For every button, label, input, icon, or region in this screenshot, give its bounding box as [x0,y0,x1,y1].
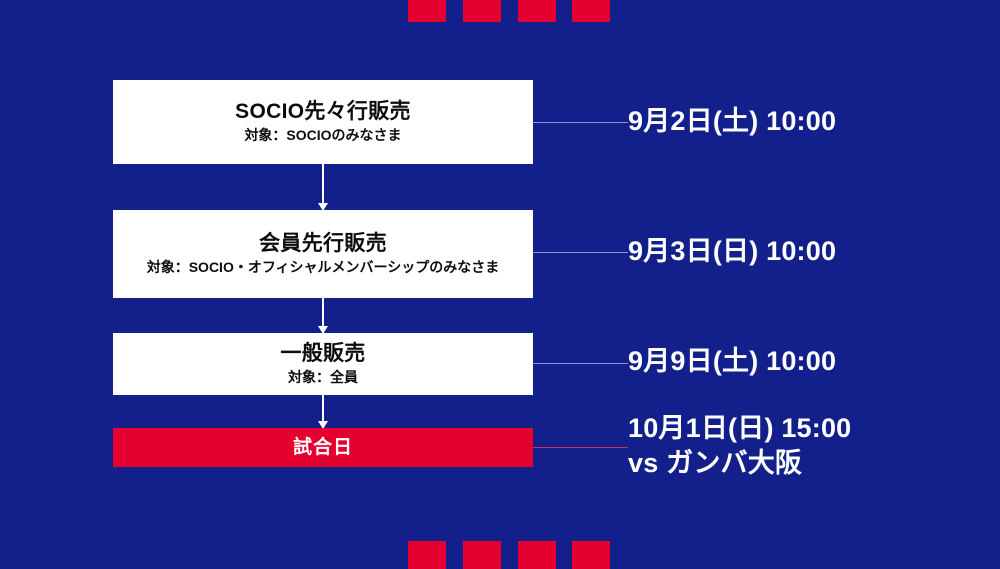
schedule-column: 9月2日(土) 10:00 9月3日(日) 10:00 9月9日(土) 10:0… [628,0,968,563]
leader-line-2 [533,252,628,253]
flow-step-title: 会員先行販売 [259,232,387,256]
decoration-square-bottom-4 [572,541,610,569]
flow-step-title: 一般販売 [280,342,365,366]
ticket-sales-schedule-graphic: SOCIO先々行販売 対象：SOCIOのみなさま 会員先行販売 対象：SOCIO… [0,0,1000,563]
flow-step-subtitle: 対象：SOCIOのみなさま [244,127,401,144]
flow-step-subtitle: 対象：全員 [288,369,358,386]
decoration-square-top-4 [572,0,610,22]
schedule-entry-match-day: 10月1日(日) 15:00 vs ガンバ大阪 [628,411,851,480]
schedule-date-primary: 9月9日(土) 10:00 [628,346,836,376]
flow-step-match-day[interactable]: 試合日 [113,428,533,467]
sales-flow-column: SOCIO先々行販売 対象：SOCIOのみなさま 会員先行販売 対象：SOCIO… [113,0,533,563]
schedule-entry-socio-advance: 9月2日(土) 10:00 [628,104,836,139]
schedule-entry-member-advance: 9月3日(日) 10:00 [628,234,836,269]
schedule-opponent: vs ガンバ大阪 [628,446,851,481]
flow-step-general-sale[interactable]: 一般販売 対象：全員 [113,333,533,395]
flow-connector-arrow-2 [322,298,324,333]
flow-step-title: SOCIO先々行販売 [235,100,411,124]
schedule-date-primary: 10月1日(日) 15:00 [628,413,851,443]
flow-connector-arrow-1 [322,164,324,210]
leader-line-1 [533,122,628,123]
flow-step-subtitle: 対象：SOCIO・オフィシャルメンバーシップのみなさま [147,259,500,276]
leader-line-4 [533,447,628,448]
flow-step-socio-advance[interactable]: SOCIO先々行販売 対象：SOCIOのみなさま [113,80,533,164]
flow-connector-arrow-3 [322,395,324,428]
schedule-date-primary: 9月3日(日) 10:00 [628,236,836,266]
schedule-entry-general-sale: 9月9日(土) 10:00 [628,344,836,379]
flow-step-member-advance[interactable]: 会員先行販売 対象：SOCIO・オフィシャルメンバーシップのみなさま [113,210,533,298]
schedule-date-primary: 9月2日(土) 10:00 [628,106,836,136]
flow-step-title: 試合日 [293,437,353,459]
leader-line-3 [533,363,628,364]
